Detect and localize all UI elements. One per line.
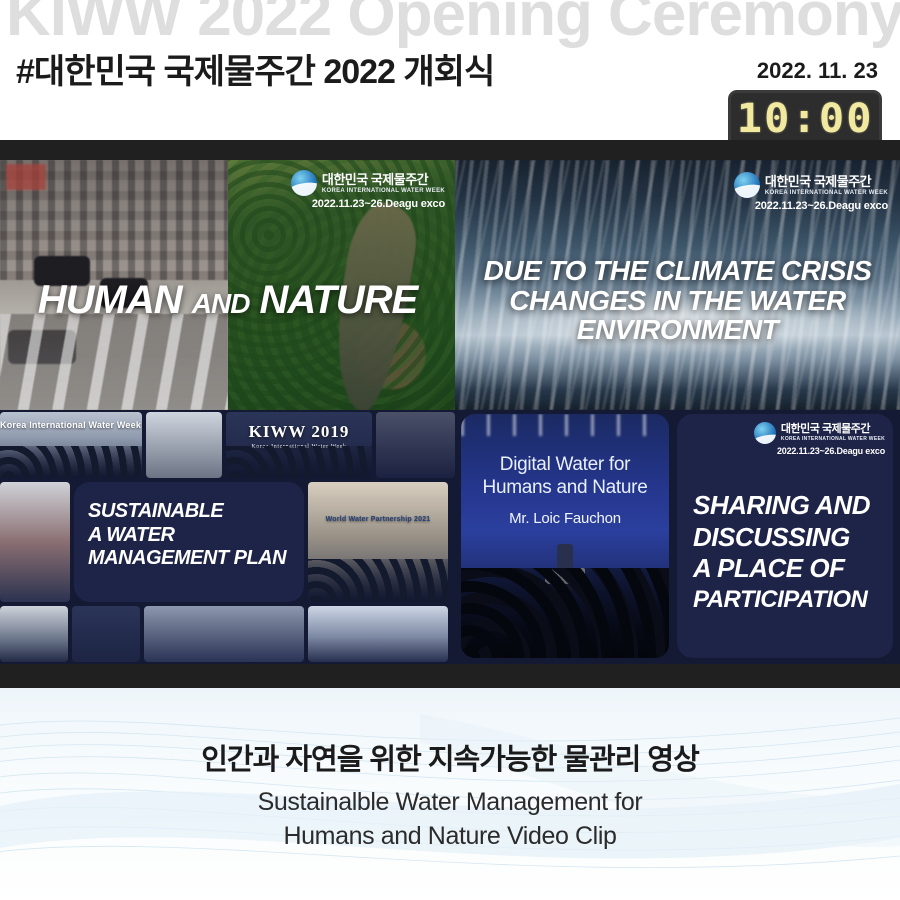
speaker-title-line-2: Humans and Nature bbox=[461, 477, 669, 500]
watermark-english: KOREA INTERNATIONAL WATER WEEK bbox=[765, 190, 888, 196]
kiww-watermark: 대한민국 국제물주간 KOREA INTERNATIONAL WATER WEE… bbox=[291, 170, 445, 210]
kiww2019-title: KIWW 2019 bbox=[249, 422, 350, 441]
thumb-keynote bbox=[72, 606, 140, 662]
thumb-speaker-podium bbox=[146, 412, 222, 478]
kiww-globe-icon bbox=[754, 422, 776, 444]
thumb-banquet bbox=[0, 606, 68, 662]
thumb-group-photo: Korea International Water Week 2019 bbox=[0, 412, 142, 478]
slide-root: KIWW 2022 Opening Ceremony #대한민국 국제물주간 2… bbox=[0, 0, 900, 900]
watermark-korean: 대한민국 국제물주간 bbox=[781, 424, 885, 435]
caption-korean: 인간과 자연을 위한 지속가능한 물관리 영상 bbox=[0, 736, 900, 778]
caption-english-line-1: Sustainalble Water Management for bbox=[0, 786, 900, 820]
header: KIWW 2022 Opening Ceremony #대한민국 국제물주간 2… bbox=[0, 0, 900, 140]
panel-human-and-nature: HUMAN AND NATURE 대한민국 국제물주간 KOREA INTERN… bbox=[0, 160, 455, 410]
card-sustainable-plan: SUSTAINABLE A WATER MANAGEMENT PLAN bbox=[74, 482, 304, 602]
headline-word-and: AND bbox=[192, 288, 250, 319]
event-date: 2022. 11. 23 bbox=[757, 58, 878, 84]
sharing-line-2: DISCUSSING bbox=[693, 522, 870, 554]
thumb-meeting-room: World Water Partnership 2021 bbox=[308, 482, 448, 602]
clock-time: 10:00 bbox=[737, 99, 874, 139]
divider-top bbox=[0, 140, 900, 160]
panel-sustainable-plan: Korea International Water Week 2019 KIWW… bbox=[0, 410, 455, 664]
thumb-kiww2019-panel: KIWW 2019 Korea International Water Week bbox=[226, 412, 372, 478]
thumb-crowd bbox=[144, 606, 304, 662]
caption-english: Sustainalble Water Management for Humans… bbox=[0, 786, 900, 854]
human-nature-headline: HUMAN AND NATURE bbox=[0, 280, 455, 320]
city-sign bbox=[6, 164, 46, 190]
page-title-ghost: KIWW 2022 Opening Ceremony bbox=[6, 0, 900, 46]
caption-english-line-2: Humans and Nature Video Clip bbox=[0, 820, 900, 854]
sharing-line-3: A PLACE OF bbox=[693, 553, 870, 585]
speaker-session-title: Digital Water for Humans and Nature bbox=[461, 454, 669, 500]
sharing-line-1: SHARING AND bbox=[693, 490, 870, 522]
room-silhouette bbox=[308, 559, 448, 602]
caption-area: 인간과 자연을 위한 지속가능한 물관리 영상 Sustainalble Wat… bbox=[0, 688, 900, 900]
sharing-headline: SHARING AND DISCUSSING A PLACE OF PARTIC… bbox=[693, 490, 870, 614]
climate-line-2: CHANGES IN THE WATER ENVIRONMENT bbox=[455, 286, 900, 345]
city-car bbox=[8, 330, 76, 364]
image-mosaic: HUMAN AND NATURE 대한민국 국제물주간 KOREA INTERN… bbox=[0, 160, 900, 664]
watermark-english: KOREA INTERNATIONAL WATER WEEK bbox=[322, 188, 445, 194]
card-speaker-session: Digital Water for Humans and Nature Mr. … bbox=[461, 414, 669, 658]
panel-silhouette bbox=[226, 446, 372, 478]
sustainable-headline: SUSTAINABLE A WATER MANAGEMENT PLAN bbox=[88, 500, 286, 571]
audience-silhouette bbox=[461, 568, 669, 658]
watermark-date: 2022.11.23~26.Deagu exco bbox=[312, 199, 445, 210]
headline-word-nature: NATURE bbox=[260, 278, 418, 322]
thumb-high-level-meeting bbox=[376, 412, 455, 478]
watermark-date: 2022.11.23~26.Deagu exco bbox=[755, 201, 888, 212]
thumb-group-line bbox=[308, 606, 448, 662]
sustainable-line-3: MANAGEMENT PLAN bbox=[88, 547, 286, 571]
thumb-caption: World Water Partnership 2021 bbox=[308, 516, 448, 523]
watermark-date: 2022.11.23~26.Deagu exco bbox=[777, 447, 885, 456]
watermark-english: KOREA INTERNATIONAL WATER WEEK bbox=[781, 437, 885, 442]
digital-clock: 10:00 bbox=[728, 90, 882, 140]
headline-word-human: HUMAN bbox=[38, 278, 182, 322]
card-sharing-participation: 대한민국 국제물주간 KOREA INTERNATIONAL WATER WEE… bbox=[677, 414, 893, 658]
divider-bottom bbox=[0, 664, 900, 688]
speaker-title-line-1: Digital Water for bbox=[461, 454, 669, 477]
sustainable-line-1: SUSTAINABLE bbox=[88, 500, 286, 524]
climate-line-1: DUE TO THE CLIMATE CRISIS bbox=[455, 256, 900, 286]
watermark-korean: 대한민국 국제물주간 bbox=[322, 173, 445, 186]
kiww-watermark: 대한민국 국제물주간 KOREA INTERNATIONAL WATER WEE… bbox=[754, 422, 885, 456]
kiww-watermark: 대한민국 국제물주간 KOREA INTERNATIONAL WATER WEE… bbox=[734, 172, 888, 212]
panel-climate-crisis: DUE TO THE CLIMATE CRISIS CHANGES IN THE… bbox=[455, 160, 900, 410]
thumb-delegates bbox=[0, 482, 70, 602]
sustainable-line-2: A WATER bbox=[88, 524, 286, 548]
page-title: #대한민국 국제물주간 2022 개회식 bbox=[16, 54, 494, 91]
kiww-globe-icon bbox=[734, 172, 760, 198]
panel-sharing-participation: Digital Water for Humans and Nature Mr. … bbox=[455, 410, 900, 664]
kiww-globe-icon bbox=[291, 170, 317, 196]
speaker-name: Mr. Loic Fauchon bbox=[461, 510, 669, 527]
thumb-caption: Korea International Water Week 2019 bbox=[0, 420, 142, 430]
sharing-line-4: PARTICIPATION bbox=[693, 585, 870, 614]
crowd-silhouette bbox=[0, 446, 142, 478]
climate-headline: DUE TO THE CLIMATE CRISIS CHANGES IN THE… bbox=[455, 256, 900, 345]
watermark-korean: 대한민국 국제물주간 bbox=[765, 175, 888, 188]
